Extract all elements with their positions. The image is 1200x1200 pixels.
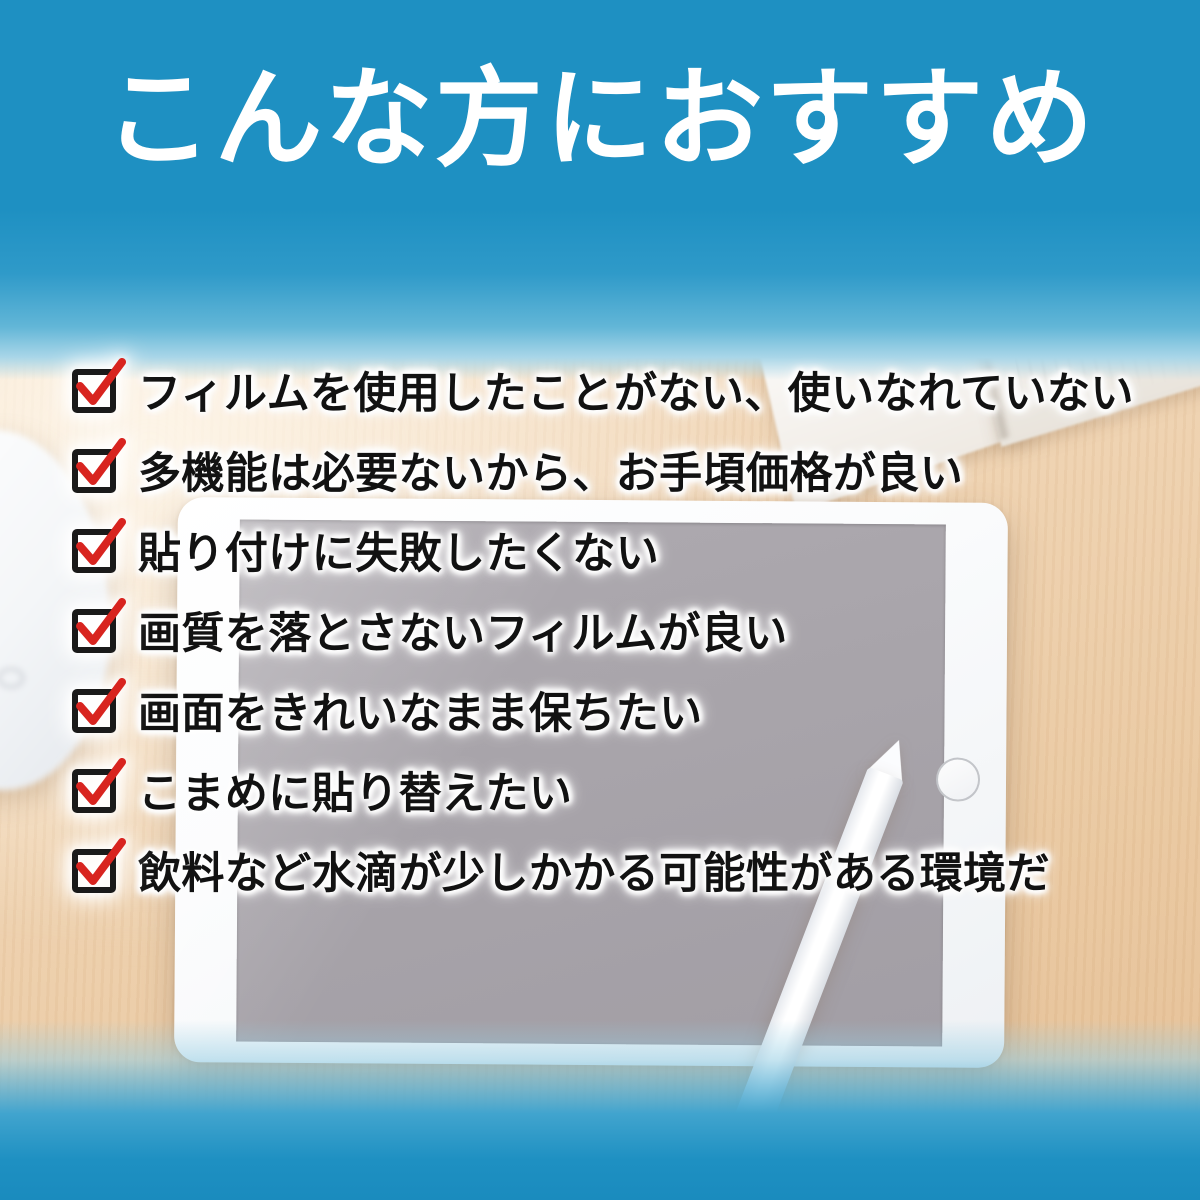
- check-mark-icon: [70, 678, 128, 736]
- list-item-label: こまめに貼り替えたい: [138, 759, 572, 821]
- list-item-label: 多機能は必要ないから、お手頃価格が良い: [138, 439, 963, 501]
- check-mark-icon: [70, 438, 128, 496]
- check-mark-icon: [70, 598, 128, 656]
- list-item-label: 貼り付けに失敗したくない: [138, 519, 659, 581]
- checked-checkbox-icon: [72, 606, 120, 654]
- list-item: 画質を落とさないフィルムが良い: [72, 602, 1182, 658]
- list-item-label: 画面をきれいなまま保ちたい: [138, 679, 703, 741]
- checked-checkbox-icon: [72, 446, 120, 494]
- list-item: 貼り付けに失敗したくない: [72, 522, 1182, 578]
- list-item: 飲料など水滴が少しかかる可能性がある環境だ: [72, 842, 1182, 898]
- check-mark-icon: [70, 518, 128, 576]
- checked-checkbox-icon: [72, 686, 120, 734]
- poster-canvas: こんな方におすすめ フィルムを使用したことがない、使いなれていない 多機能は必要…: [0, 0, 1200, 1200]
- list-item-label: 画質を落とさないフィルムが良い: [138, 599, 788, 661]
- page-title: こんな方におすすめ: [0, 62, 1200, 175]
- check-mark-icon: [70, 838, 128, 896]
- recommendation-checklist: フィルムを使用したことがない、使いなれていない 多機能は必要ないから、お手頃価格…: [72, 362, 1182, 922]
- list-item: 画面をきれいなまま保ちたい: [72, 682, 1182, 738]
- check-mark-icon: [70, 758, 128, 816]
- checked-checkbox-icon: [72, 366, 120, 414]
- list-item: こまめに貼り替えたい: [72, 762, 1182, 818]
- list-item: 多機能は必要ないから、お手頃価格が良い: [72, 442, 1182, 498]
- checked-checkbox-icon: [72, 766, 120, 814]
- checked-checkbox-icon: [72, 526, 120, 574]
- list-item-label: フィルムを使用したことがない、使いなれていない: [138, 359, 1134, 421]
- object-detail-ring: [0, 668, 24, 688]
- list-item: フィルムを使用したことがない、使いなれていない: [72, 362, 1182, 418]
- list-item-label: 飲料など水滴が少しかかる可能性がある環境だ: [138, 839, 1050, 901]
- check-mark-icon: [70, 358, 128, 416]
- top-blue-band: [0, 0, 1200, 380]
- checked-checkbox-icon: [72, 846, 120, 894]
- bottom-blue-band: [0, 1020, 1200, 1200]
